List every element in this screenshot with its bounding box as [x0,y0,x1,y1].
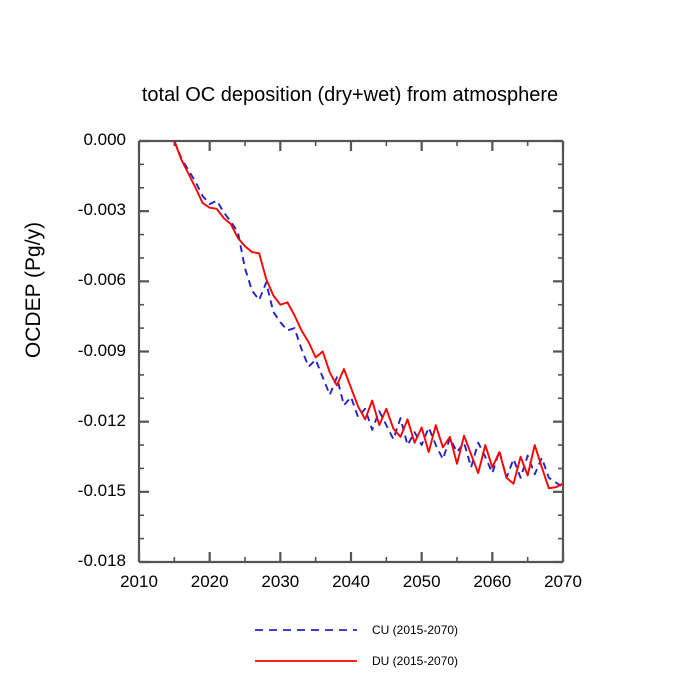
legend-entry-label: CU (2015-2070) [372,623,458,637]
axes-frame [139,141,563,562]
series-line-du [174,141,563,488]
chart-legend [255,630,357,661]
chart-figure: total OC deposition (dry+wet) from atmos… [0,0,700,700]
y-tick-label: -0.015 [40,481,126,501]
data-lines [174,141,563,488]
y-tick-label: -0.018 [40,551,126,571]
y-tick-label: -0.003 [40,200,126,220]
x-tick-label: 2070 [518,572,608,592]
legend-entry-label: DU (2015-2070) [372,654,458,668]
y-tick-label: -0.006 [40,270,126,290]
series-line-cu [174,141,563,487]
y-tick-label: 0.000 [40,130,126,150]
y-tick-label: -0.012 [40,411,126,431]
chart-title: total OC deposition (dry+wet) from atmos… [0,84,700,107]
y-tick-label: -0.009 [40,341,126,361]
